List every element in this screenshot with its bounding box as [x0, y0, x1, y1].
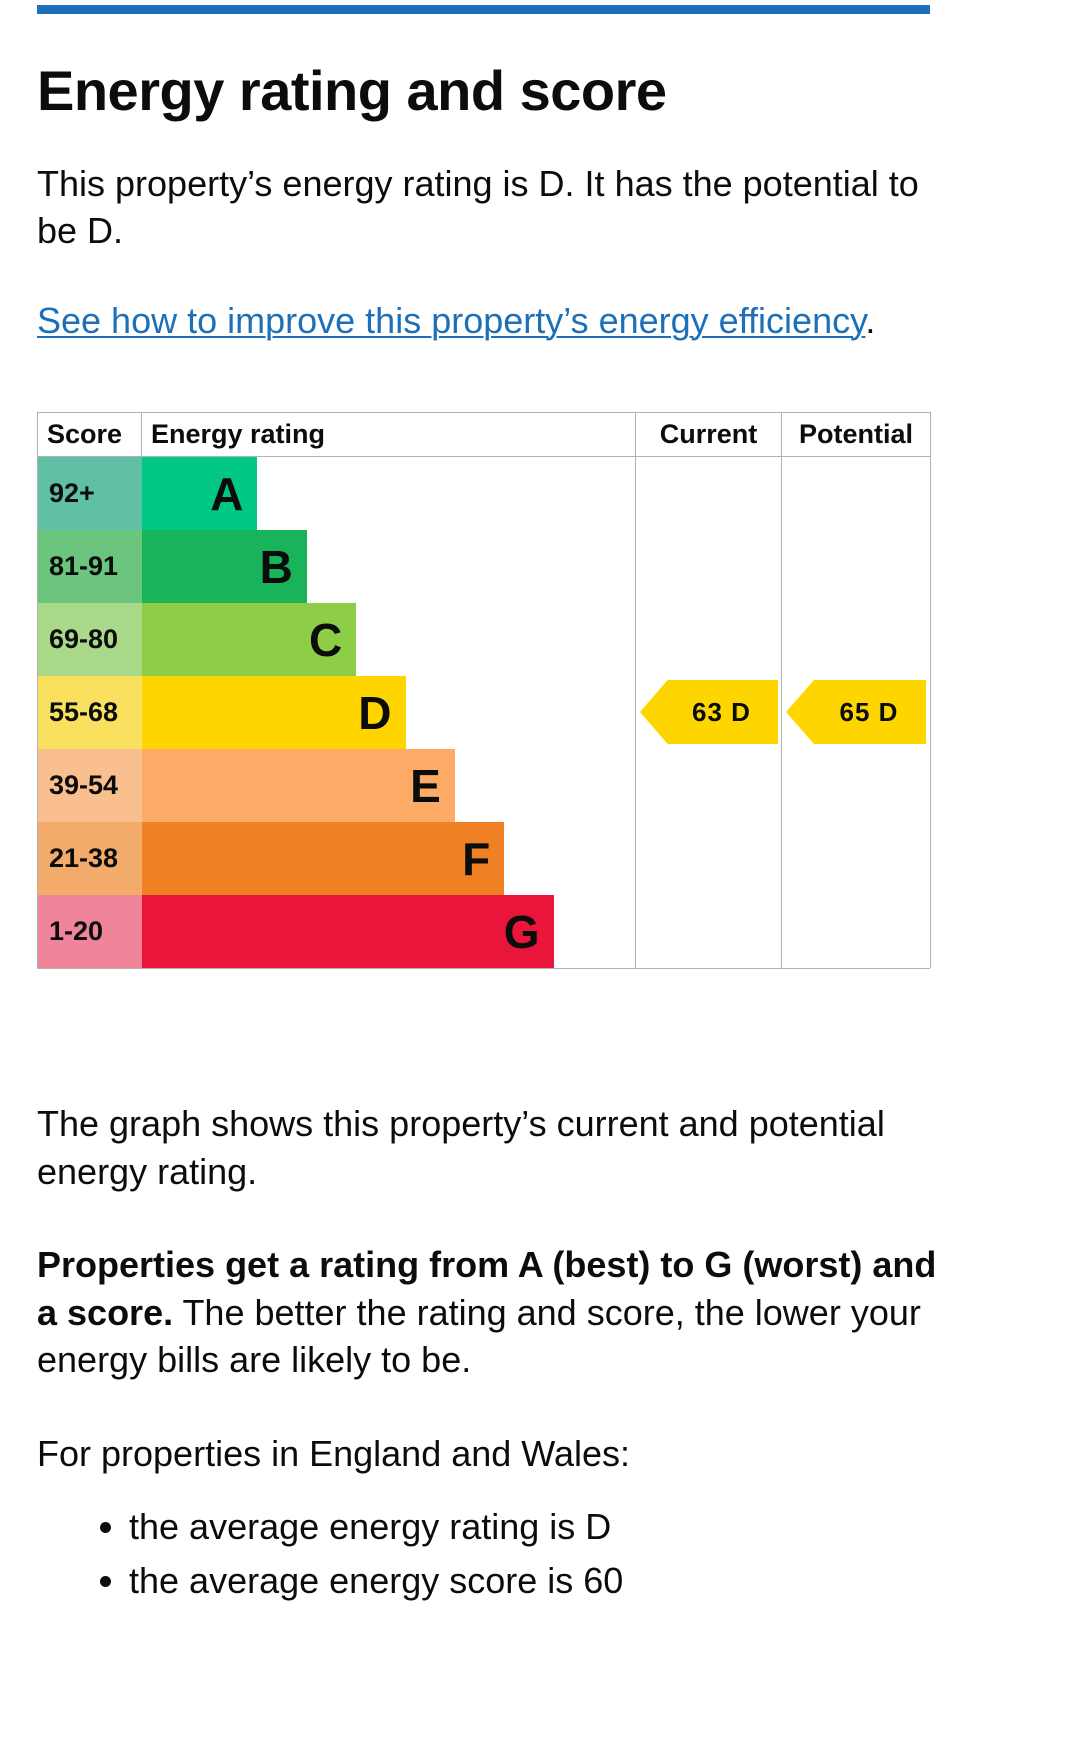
link-trailing-period: .	[865, 300, 875, 341]
column-header-score: Score	[38, 413, 142, 457]
column-header-current: Current	[636, 413, 782, 457]
graph-caption: The graph shows this property’s current …	[37, 1100, 937, 1195]
potential-rating-cell	[782, 457, 931, 531]
column-header-energy-rating: Energy rating	[142, 413, 636, 457]
epc-band-row: 69-80C	[38, 603, 931, 676]
current-rating-cell	[636, 530, 782, 603]
band-letter: A	[142, 457, 258, 530]
potential-rating-cell	[782, 603, 931, 676]
band-bar-cell: B	[142, 530, 636, 603]
band-letter: B	[142, 530, 307, 603]
band-score-range: 55-68	[38, 676, 142, 749]
band-score-range: 92+	[38, 457, 142, 531]
epc-band-row: 1-20G	[38, 895, 931, 968]
current-rating-cell: 63 D	[636, 676, 782, 749]
page-title: Energy rating and score	[37, 60, 937, 122]
current-rating-cell	[636, 895, 782, 968]
current-rating-cell	[636, 822, 782, 895]
region-intro: For properties in England and Wales:	[37, 1430, 937, 1478]
band-letter: G	[142, 895, 554, 968]
epc-table-header-row: Score Energy rating Current Potential	[38, 413, 931, 457]
band-bar-cell: D	[142, 676, 636, 749]
band-score-range: 1-20	[38, 895, 142, 968]
energy-rating-page: Energy rating and score This property’s …	[0, 0, 1080, 1751]
current-rating-cell	[636, 457, 782, 531]
explanation-section: The graph shows this property’s current …	[37, 1100, 937, 1610]
band-letter: E	[142, 749, 455, 822]
improve-efficiency-link[interactable]: See how to improve this property’s energ…	[37, 300, 865, 341]
rating-explanation: Properties get a rating from A (best) to…	[37, 1241, 937, 1384]
potential-rating-cell	[782, 749, 931, 822]
averages-list: the average energy rating is Dthe averag…	[37, 1503, 937, 1604]
list-item: the average energy rating is D	[129, 1503, 937, 1551]
epc-band-row: 55-68D63 D65 D	[38, 676, 931, 749]
band-bar-cell: F	[142, 822, 636, 895]
band-letter: F	[142, 822, 505, 895]
intro-section: Energy rating and score This property’s …	[37, 0, 937, 344]
band-letter: D	[142, 676, 406, 749]
band-letter: C	[142, 603, 357, 676]
epc-graph: Score Energy rating Current Potential 92…	[37, 412, 930, 969]
current-rating-cell	[636, 749, 782, 822]
potential-rating-cell: 65 D	[782, 676, 931, 749]
arrow-score-label: 65 D	[782, 676, 930, 749]
band-bar-cell: A	[142, 457, 636, 531]
band-bar-cell: C	[142, 603, 636, 676]
epc-band-row: 92+A	[38, 457, 931, 531]
epc-band-row: 21-38F	[38, 822, 931, 895]
potential-rating-cell	[782, 530, 931, 603]
potential-rating-cell	[782, 895, 931, 968]
current-rating-arrow: 63 D	[636, 676, 781, 749]
epc-band-row: 81-91B	[38, 530, 931, 603]
improve-link-line: See how to improve this property’s energ…	[37, 297, 937, 345]
list-item: the average energy score is 60	[129, 1557, 937, 1605]
band-score-range: 21-38	[38, 822, 142, 895]
epc-band-row: 39-54E	[38, 749, 931, 822]
band-bar-cell: E	[142, 749, 636, 822]
band-score-range: 39-54	[38, 749, 142, 822]
column-header-potential: Potential	[782, 413, 931, 457]
potential-rating-arrow: 65 D	[782, 676, 930, 749]
band-score-range: 81-91	[38, 530, 142, 603]
potential-rating-cell	[782, 822, 931, 895]
epc-table: Score Energy rating Current Potential 92…	[37, 412, 931, 968]
intro-paragraph: This property’s energy rating is D. It h…	[37, 160, 937, 255]
arrow-score-label: 63 D	[636, 676, 781, 749]
current-rating-cell	[636, 603, 782, 676]
epc-bottom-rule	[37, 968, 930, 969]
epc-band-rows: 92+A81-91B69-80C55-68D63 D65 D39-54E21-3…	[38, 457, 931, 969]
band-bar-cell: G	[142, 895, 636, 968]
band-score-range: 69-80	[38, 603, 142, 676]
